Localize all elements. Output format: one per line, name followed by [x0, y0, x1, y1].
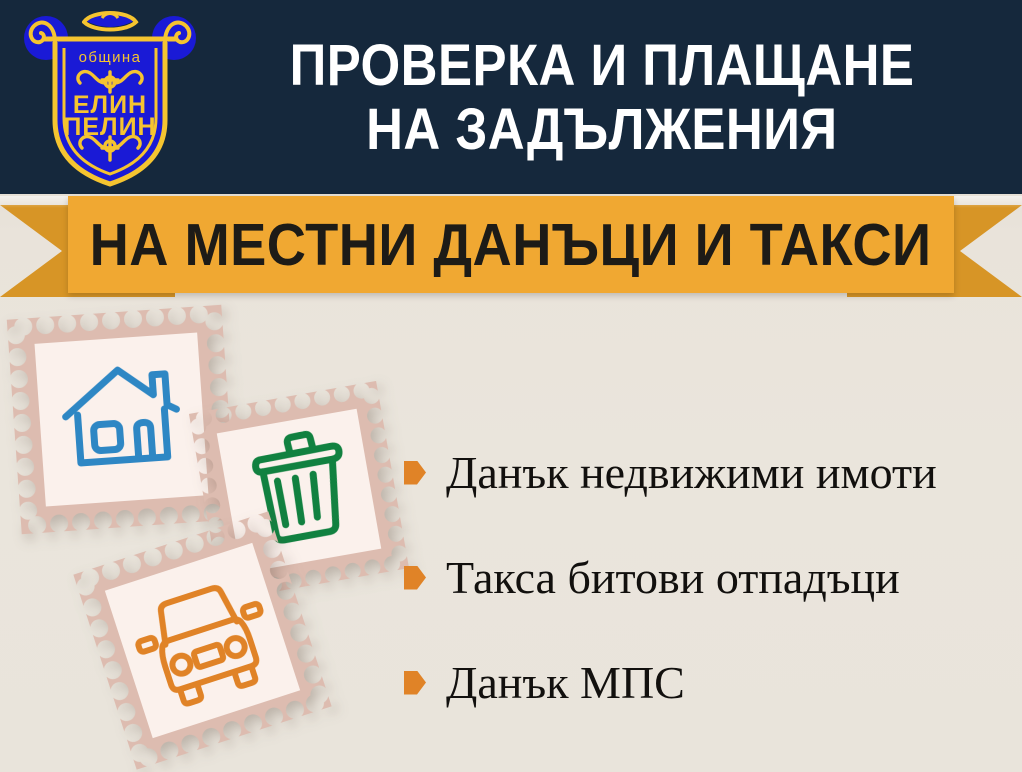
crest-word-line2: ПЕЛИН [63, 113, 156, 141]
crest-word-top: община [79, 49, 142, 66]
ribbon-label: НА МЕСТНИ ДАНЪЦИ И ТАКСИ [90, 215, 932, 275]
subtitle-ribbon: НА МЕСТНИ ДАНЪЦИ И ТАКСИ [0, 196, 1022, 306]
page-title-line-1: ПРОВЕРКА И ПЛАЩАНЕ [290, 34, 915, 98]
list-item-label: Данък МПС [446, 658, 685, 708]
poster-root: община ЕЛИН ПЕЛИН ПРОВЕРКА И ПЛАЩАНЕ НА … [0, 0, 1022, 772]
arrow-bullet-icon [404, 671, 426, 697]
header-bar: община ЕЛИН ПЕЛИН ПРОВЕРКА И ПЛАЩАНЕ НА … [0, 0, 1022, 194]
tax-types-list: Данък недвижими имоти Такса битови отпад… [404, 420, 1014, 735]
ribbon-banner: НА МЕСТНИ ДАНЪЦИ И ТАКСИ [68, 196, 954, 293]
page-title-line-2: НА ЗАДЪЛЖЕНИЯ [366, 98, 837, 162]
arrow-bullet-icon [404, 566, 426, 592]
list-item: Такса битови отпадъци [404, 525, 1014, 630]
list-item-label: Данък недвижими имоти [446, 448, 937, 498]
list-item-label: Такса битови отпадъци [446, 553, 900, 603]
page-title: ПРОВЕРКА И ПЛАЩАНЕ НА ЗАДЪЛЖЕНИЯ [196, 16, 1008, 180]
elin-pelin-municipality-crest: община ЕЛИН ПЕЛИН [22, 8, 198, 188]
list-item: Данък недвижими имоти [404, 420, 1014, 525]
arrow-bullet-icon [404, 461, 426, 487]
list-item: Данък МПС [404, 630, 1014, 735]
